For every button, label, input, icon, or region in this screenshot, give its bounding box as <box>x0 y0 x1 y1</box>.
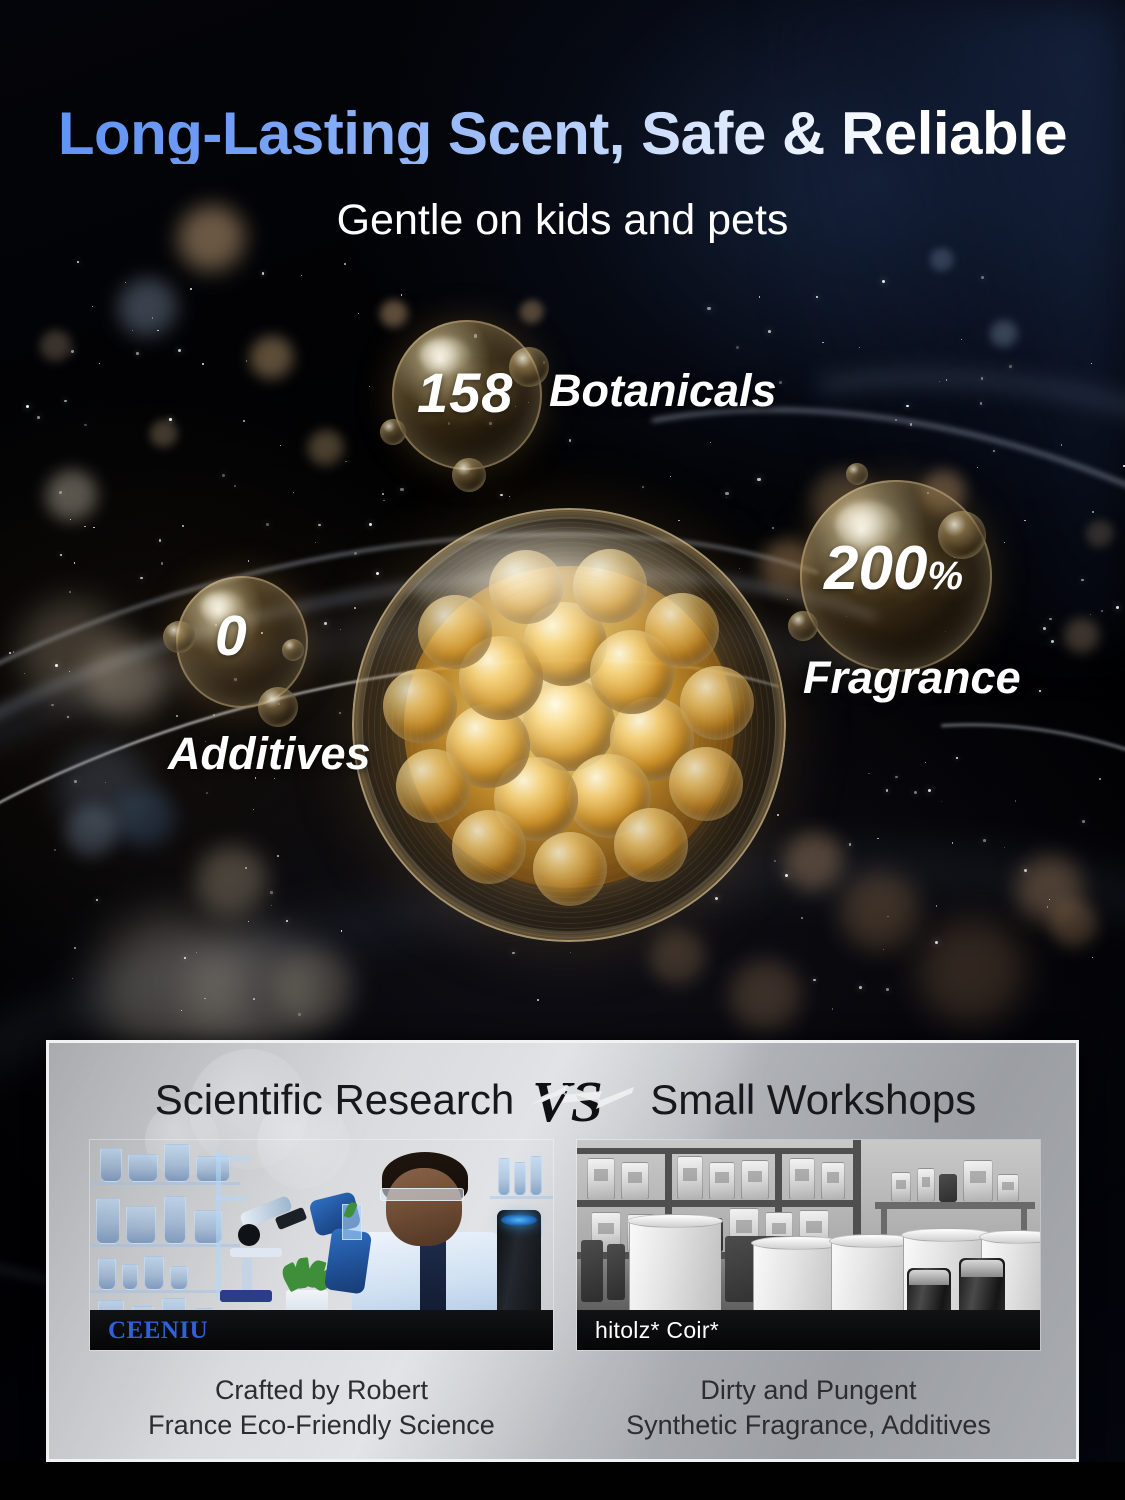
comparison-title: Scientific Research VS VS <box>49 1069 1079 1131</box>
stat-label-botanicals: Botanicals <box>549 368 777 413</box>
caption-right: Dirty and Pungent Synthetic Fragrance, A… <box>576 1373 1041 1443</box>
comparison-title-left: Scientific Research <box>155 1079 514 1121</box>
caption-left-line2: France Eco-Friendly Science <box>89 1408 554 1443</box>
brand-label-left-text: CEENIU <box>90 1318 208 1343</box>
caption-right-line1: Dirty and Pungent <box>700 1375 916 1405</box>
stat-value-fragrance-number: 200 <box>824 534 927 603</box>
brand-label-left: CEENIU <box>90 1310 553 1350</box>
vs-icon: VS VS <box>528 1069 636 1131</box>
stat-value-additives: 0 <box>215 608 247 665</box>
bottom-strip <box>0 1462 1125 1500</box>
caption-right-line2: Synthetic Fragrance, Additives <box>576 1408 1041 1443</box>
workshop-photo: hitolz* Coir* <box>576 1139 1041 1351</box>
stat-value-fragrance-suffix: % <box>927 554 963 598</box>
stat-label-fragrance: Fragrance <box>803 655 1021 700</box>
page-subtitle: Gentle on kids and pets <box>0 196 1125 245</box>
brand-label-right: hitolz* Coir* <box>577 1310 1040 1350</box>
stat-value-botanicals: 158 <box>417 365 513 421</box>
golden-essence-sphere <box>352 508 786 942</box>
stat-value-fragrance: 200% <box>824 538 963 600</box>
product-banner: Long-Lasting Scent, Safe & Reliable Gent… <box>0 0 1125 1500</box>
page-title: Long-Lasting Scent, Safe & Reliable <box>0 104 1125 164</box>
caption-left: Crafted by Robert France Eco-Friendly Sc… <box>89 1373 554 1443</box>
comparison-title-right: Small Workshops <box>650 1079 976 1121</box>
brand-label-right-text: hitolz* Coir* <box>577 1319 719 1342</box>
comparison-panel: Scientific Research VS VS <box>46 1040 1079 1462</box>
caption-left-line1: Crafted by Robert <box>215 1375 428 1405</box>
lab-photo: CEENIU <box>89 1139 554 1351</box>
stat-label-additives: Additives <box>168 731 371 776</box>
